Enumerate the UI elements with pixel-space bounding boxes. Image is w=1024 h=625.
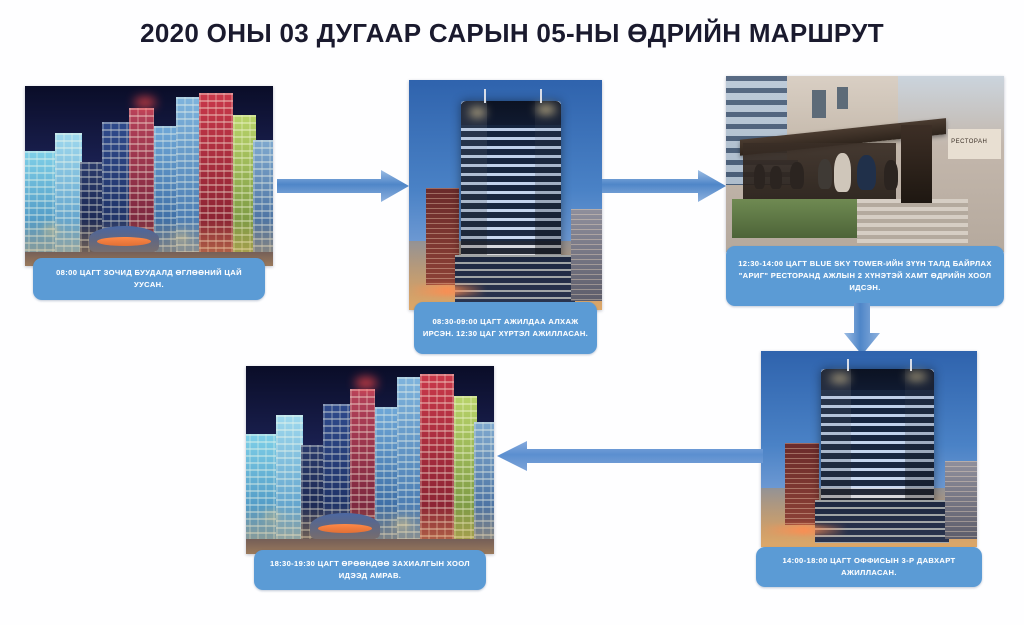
step-4-caption: 14:00-18:00 ЦАГТ ОФФИСЫН 3-Р ДАВХАРТ АЖИ… — [756, 547, 982, 587]
office-tower-artwork-2 — [761, 351, 977, 547]
step-4-office-card: 14:00-18:00 ЦАГТ ОФФИСЫН 3-Р ДАВХАРТ АЖИ… — [761, 351, 977, 547]
step-3-caption: 12:30-14:00 ЦАГТ BLUE SKY TOWER-ИЙН ЗҮҮН… — [726, 246, 1004, 306]
adjacent-lowrise-building — [426, 188, 459, 285]
step-5-caption: 18:30-19:30 ЦАГТ ӨРӨӨНДӨӨ ЗАХИАЛГЫН ХООЛ… — [254, 550, 486, 590]
night-city-skyline-hotel-photo — [25, 86, 273, 266]
road-traffic-glow — [409, 285, 486, 297]
step-1-caption: 08:00 ЦАГТ ЗОЧИД БУУДАЛД ӨГЛӨӨНИЙ ЦАЙ УУ… — [33, 258, 265, 300]
arrow-1-to-2 — [277, 168, 409, 204]
roof-mast-left — [484, 89, 486, 103]
restaurant-artwork: РЕСТОРАН — [726, 76, 1004, 252]
entrance-steps — [857, 199, 968, 248]
city-skyline-artwork-2 — [246, 366, 494, 554]
step-2-caption: 08:30-09:00 ЦАГТ АЖИЛДАА АЛХАЖ ИРСЭН. 12… — [414, 302, 597, 354]
step-3-restaurant-card: РЕСТОРАН 12:30-14:00 ЦАГТ BLUE SKY TOWER… — [726, 76, 1004, 252]
arrow-4-to-5 — [497, 440, 763, 472]
hedge-row — [732, 199, 857, 238]
city-skyline-artwork — [25, 86, 273, 266]
step-5-hotel-card: 18:30-19:30 ЦАГТ ӨРӨӨНДӨӨ ЗАХИАЛГЫН ХООЛ… — [246, 366, 494, 554]
restaurant-sign-text: РЕСТОРАН — [951, 139, 987, 145]
arig-restaurant-photo: РЕСТОРАН — [726, 76, 1004, 252]
blue-sky-tower-photo-afternoon — [761, 351, 977, 547]
roof-mast-right — [540, 89, 542, 103]
street-lights-glow-2 — [246, 505, 494, 554]
page-title: 2020 ОНЫ 03 ДУГААР САРЫН 05-НЫ ӨДРИЙН МА… — [0, 18, 1024, 49]
entrance-door — [901, 125, 932, 202]
route-flow-page: 2020 ОНЫ 03 ДУГААР САРЫН 05-НЫ ӨДРИЙН МА… — [0, 0, 1024, 625]
night-city-skyline-hotel-photo-evening — [246, 366, 494, 554]
arrow-3-to-4 — [843, 303, 881, 355]
tower-podium-2 — [815, 500, 949, 543]
step-1-hotel-card: 08:00 ЦАГТ ЗОЧИД БУУДАЛД ӨГЛӨӨНИЙ ЦАЙ УУ… — [25, 86, 273, 266]
tower-podium — [455, 255, 575, 306]
office-tower-artwork — [409, 80, 602, 310]
blue-sky-tower-photo-morning — [409, 80, 602, 310]
arrow-2-to-3 — [602, 168, 726, 204]
step-2-office-card: 08:30-09:00 ЦАГТ АЖИЛДАА АЛХАЖ ИРСЭН. 12… — [409, 80, 602, 310]
